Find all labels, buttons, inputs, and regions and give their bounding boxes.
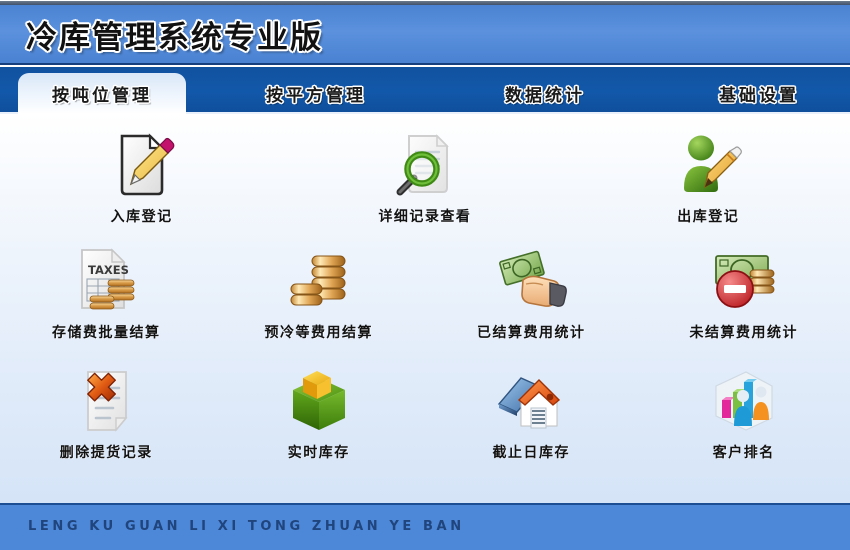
menu-item-label: 预冷等费用结算 [265, 322, 374, 342]
tab-data-statistics[interactable]: 数据统计 [470, 73, 620, 114]
menu-item-label: 客户排名 [713, 442, 775, 462]
menu-item-customer-ranking[interactable]: 客户排名 [638, 364, 850, 484]
tab-label: 基础设置 [719, 81, 799, 106]
taxes-document-coins-icon: TAXES [68, 244, 144, 318]
menu-item-detail-record-view[interactable]: 详细记录查看 [283, 128, 566, 244]
document-magnifier-icon [387, 128, 463, 202]
document-delete-icon [68, 364, 144, 438]
menu-item-label: 实时库存 [288, 442, 350, 462]
menu-item-label: 截止日库存 [493, 442, 571, 462]
menu-item-label: 已结算费用统计 [477, 322, 586, 342]
bar-chart-people-icon [706, 364, 782, 438]
icon-row-1: 入库登记 [0, 128, 850, 244]
tab-bar: 按吨位管理 按平方管理 数据统计 基础设置 [0, 67, 850, 114]
svg-text:TAXES: TAXES [88, 263, 129, 277]
icon-row-3: 删除提货记录 [0, 364, 850, 484]
header-band: 冷库管理系统专业版 [0, 5, 850, 65]
hand-banknote-icon [493, 244, 569, 318]
menu-item-unsettled-fee-statistics[interactable]: 未结算费用统计 [638, 244, 850, 364]
menu-item-precooling-fee-settlement[interactable]: 预冷等费用结算 [213, 244, 426, 364]
menu-item-delete-pickup-record[interactable]: 删除提货记录 [0, 364, 213, 484]
menu-item-label: 未结算费用统计 [690, 322, 799, 342]
document-pencil-icon [104, 128, 180, 202]
tab-label: 按吨位管理 [52, 81, 152, 106]
coin-stacks-icon [281, 244, 357, 318]
tab-label: 数据统计 [505, 81, 585, 106]
page-title: 冷库管理系统专业版 [26, 12, 323, 57]
menu-item-label: 出库登记 [677, 206, 739, 226]
banknote-coins-deny-icon [706, 244, 782, 318]
application-window: 冷库管理系统专业版 按吨位管理 按平方管理 数据统计 基础设置 [0, 0, 850, 550]
menu-item-label: 删除提货记录 [60, 442, 153, 462]
icon-row-2: TAXES [0, 244, 850, 364]
menu-item-outbound-registration[interactable]: 出库登记 [567, 128, 850, 244]
menu-item-label: 存储费批量结算 [52, 322, 161, 342]
menu-item-inbound-registration[interactable]: 入库登记 [0, 128, 283, 244]
menu-item-label: 详细记录查看 [378, 206, 471, 226]
tab-area-management[interactable]: 按平方管理 [232, 73, 400, 114]
tab-tonnage-management[interactable]: 按吨位管理 [18, 73, 186, 114]
menu-item-storage-fee-batch-settlement[interactable]: TAXES [0, 244, 213, 364]
main-content: 入库登记 [0, 114, 850, 503]
menu-item-label: 入库登记 [111, 206, 173, 226]
tab-label: 按平方管理 [266, 81, 366, 106]
warehouse-house-icon [493, 364, 569, 438]
menu-item-settled-fee-statistics[interactable]: 已结算费用统计 [425, 244, 638, 364]
footer-pinyin-label: LENG KU GUAN LI XI TONG ZHUAN YE BAN [28, 519, 465, 534]
green-box-icon [281, 364, 357, 438]
menu-item-realtime-inventory[interactable]: 实时库存 [213, 364, 426, 484]
tab-basic-settings[interactable]: 基础设置 [684, 73, 834, 114]
person-pencil-icon [670, 128, 746, 202]
footer-bar: LENG KU GUAN LI XI TONG ZHUAN YE BAN [0, 503, 850, 550]
menu-item-cutoff-date-inventory[interactable]: 截止日库存 [425, 364, 638, 484]
